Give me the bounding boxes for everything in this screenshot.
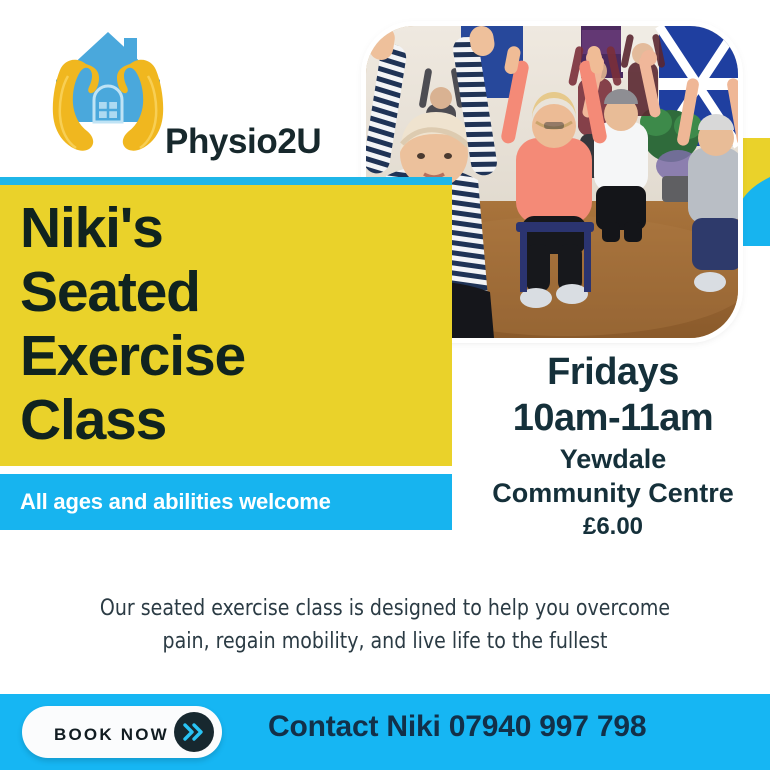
description-line-1: Our seated exercise class is designed to… [42,592,727,625]
headline-line-2: Seated [20,260,450,324]
book-now-label: BOOK NOW [54,725,169,745]
class-time: 10am-11am [456,394,770,442]
venue-line-2: Community Centre [456,476,770,510]
contact-text: Contact Niki 07940 997 798 [268,710,646,744]
headline-line-1: Niki's [20,196,450,260]
house-in-hands-logo [28,18,188,158]
venue-line-1: Yewdale [456,442,770,476]
headline-line-3: Exercise [20,324,450,388]
book-now-button[interactable]: BOOK NOW [22,706,222,758]
flyer-poster: Physio2U [0,0,770,770]
double-chevron-right-icon[interactable] [174,712,214,752]
headline-line-4: Class [20,388,450,452]
class-day: Fridays [456,350,770,394]
class-description: Our seated exercise class is designed to… [42,592,727,658]
page-title: Niki's Seated Exercise Class [20,196,450,452]
headline-top-accent-bar [0,177,452,185]
subtitle-bar: All ages and abilities welcome [0,474,452,530]
subtitle-text: All ages and abilities welcome [20,489,331,515]
class-details: Fridays 10am-11am Yewdale Community Cent… [456,350,770,544]
brand-name: Physio2U [165,122,321,162]
description-line-2: pain, regain mobility, and live life to … [42,625,727,658]
corner-accent-shape [742,138,770,246]
class-price: £6.00 [456,510,770,544]
